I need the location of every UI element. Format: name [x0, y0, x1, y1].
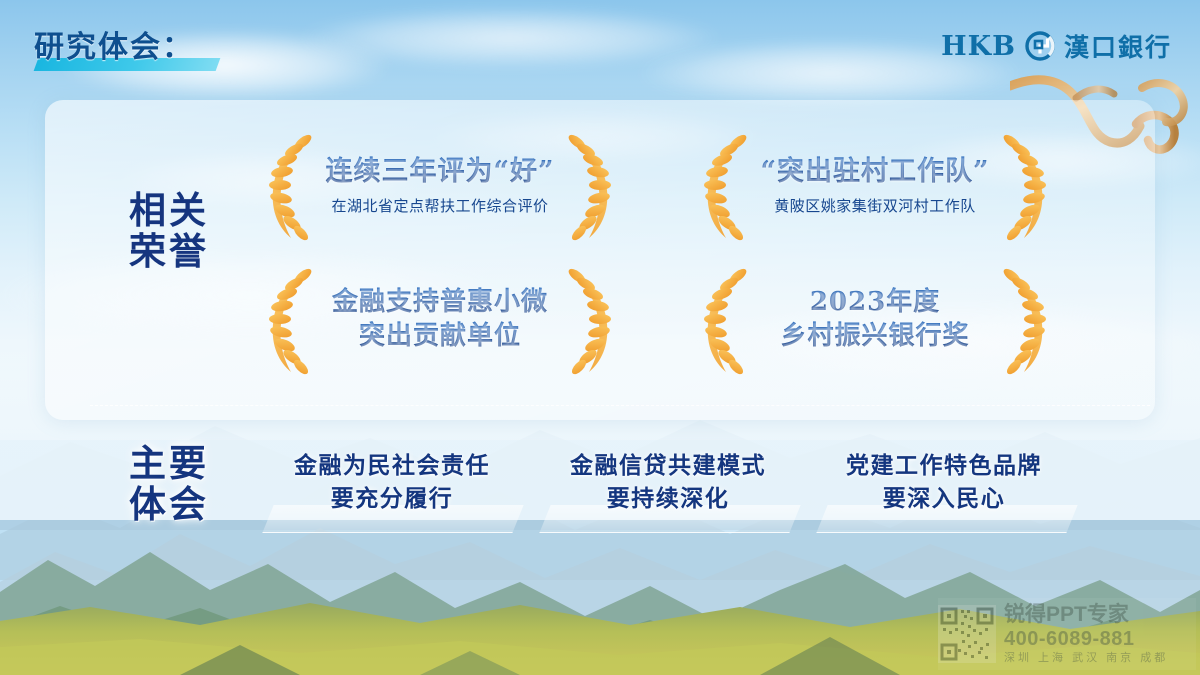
takeaway-line2: 要深入民心 [814, 483, 1074, 516]
section-label-takeaways-line2: 体会 [104, 484, 234, 525]
award-title-line2: 突出贡献单位 [359, 320, 521, 353]
takeaway-item: 金融为民社会责任 要充分履行 [262, 450, 522, 515]
laurel-wreath-icon [557, 262, 619, 377]
award-subtitle: 在湖北省定点帮扶工作综合评价 [331, 195, 548, 216]
brand-logo: HKB 漢口銀行 [941, 28, 1172, 64]
section-label-honors: 相关 荣誉 [104, 190, 234, 273]
award-badge: 金融支持普惠小微 突出贡献单位 [255, 262, 625, 377]
laurel-wreath-icon [557, 128, 619, 243]
watermark-cities: 深圳 上海 武汉 南京 成都 [1004, 652, 1168, 665]
award-badge-body: 2023年度 乡村振兴银行奖 [748, 262, 1002, 377]
award-title-line1: 2023年度 [810, 286, 940, 319]
award-badge: 2023年度 乡村振兴银行奖 [690, 262, 1060, 377]
award-badge-body: 金融支持普惠小微 突出贡献单位 [313, 262, 567, 377]
award-title-line2: 乡村振兴银行奖 [780, 320, 969, 353]
takeaway-item: 党建工作特色品牌 要深入民心 [814, 450, 1074, 515]
award-title: 连续三年评为“好” [325, 155, 554, 190]
qr-code-icon [938, 605, 996, 663]
logo-abbr-text: HKB [941, 31, 1016, 62]
laurel-wreath-icon [992, 128, 1054, 243]
award-badge-body: 连续三年评为“好” 在湖北省定点帮扶工作综合评价 [313, 128, 567, 243]
logo-bank-name: 漢口銀行 [1064, 28, 1172, 64]
award-title-line1: 金融支持普惠小微 [332, 286, 548, 319]
laurel-wreath-icon [992, 262, 1054, 377]
award-badge: 连续三年评为“好” 在湖北省定点帮扶工作综合评价 [255, 128, 625, 243]
award-badge: “突出驻村工作队” 黄陂区姚家集街双河村工作队 [690, 128, 1060, 243]
takeaway-item: 金融信贷共建模式 要持续深化 [538, 450, 798, 515]
award-badge-body: “突出驻村工作队” 黄陂区姚家集街双河村工作队 [748, 128, 1002, 243]
award-subtitle: 黄陂区姚家集街双河村工作队 [774, 195, 976, 216]
watermark-phone: 400-6089-881 [1004, 628, 1168, 652]
takeaway-line2: 要持续深化 [538, 483, 798, 516]
takeaway-line1: 金融信贷共建模式 [538, 450, 798, 483]
section-label-honors-line2: 荣誉 [104, 231, 234, 272]
page-title: 研究体会： [34, 22, 194, 66]
section-label-takeaways: 主要 体会 [104, 443, 234, 526]
watermark-brand: 锐得PPT专家 [1004, 603, 1168, 628]
section-label-takeaways-line1: 主要 [104, 443, 234, 484]
takeaway-line1: 金融为民社会责任 [262, 450, 522, 483]
section-divider [90, 405, 1150, 406]
title-text: 研究体会： [34, 22, 194, 66]
hankou-bank-circle-mark-icon [1025, 31, 1055, 61]
award-title: “突出驻村工作队” [760, 155, 989, 190]
takeaway-line1: 党建工作特色品牌 [814, 450, 1074, 483]
watermark: 锐得PPT专家 400-6089-881 深圳 上海 武汉 南京 成都 [938, 598, 1196, 670]
takeaway-line2: 要充分履行 [262, 483, 522, 516]
watermark-text: 锐得PPT专家 400-6089-881 深圳 上海 武汉 南京 成都 [1004, 603, 1168, 664]
section-label-honors-line1: 相关 [104, 190, 234, 231]
